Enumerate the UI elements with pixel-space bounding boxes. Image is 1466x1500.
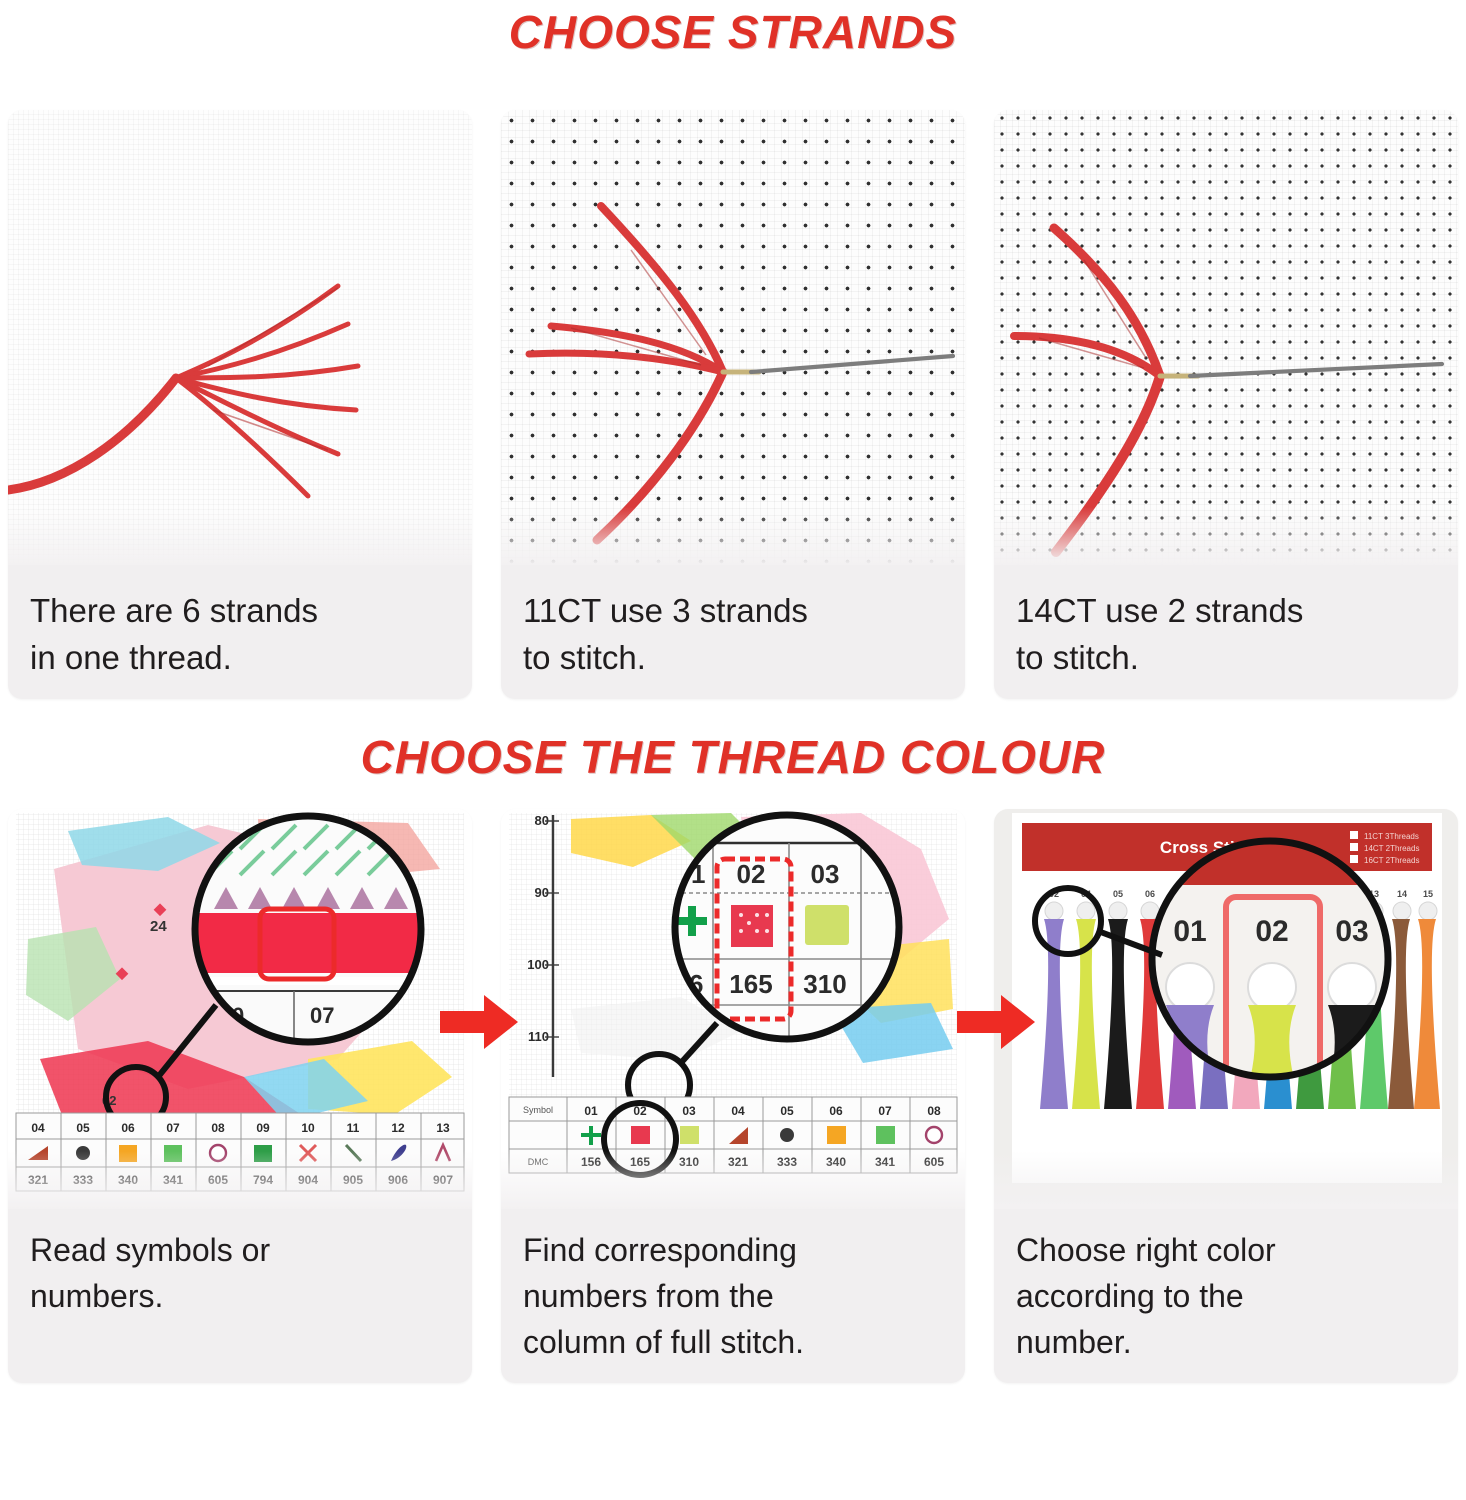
needle-shaft bbox=[1190, 364, 1442, 376]
svg-text:07: 07 bbox=[166, 1121, 180, 1135]
strand-caption-6: There are 6 strands in one thread. bbox=[8, 565, 472, 699]
strand-photo-11ct bbox=[501, 110, 965, 565]
needle-shaft bbox=[751, 356, 953, 372]
arrow-step-1-to-2-icon bbox=[440, 991, 518, 1053]
svg-text:13: 13 bbox=[436, 1121, 450, 1135]
thread-organiser-photo: Cross Stitch 11CT 3Threads 14CT 2Threads… bbox=[994, 809, 1458, 1209]
colour-caption-choose-color: Choose right color according to the numb… bbox=[994, 1209, 1458, 1383]
svg-text:Symbol: Symbol bbox=[523, 1105, 553, 1115]
photo-bottom-fade bbox=[8, 507, 472, 565]
svg-text:310: 310 bbox=[803, 969, 846, 999]
pattern-legend-illustration: 80 90 100 110 bbox=[501, 809, 965, 1209]
caption-line: numbers. bbox=[30, 1273, 450, 1319]
svg-text:01: 01 bbox=[584, 1104, 598, 1118]
photo-bottom-fade bbox=[994, 1151, 1458, 1209]
caption-line: column of full stitch. bbox=[523, 1319, 943, 1365]
svg-text:165: 165 bbox=[729, 969, 772, 999]
svg-text:07: 07 bbox=[878, 1104, 892, 1118]
photo-bottom-fade bbox=[8, 1151, 472, 1209]
colour-caption-read-symbols: Read symbols or numbers. bbox=[8, 1209, 472, 1383]
svg-text:05: 05 bbox=[1113, 889, 1123, 899]
magnified-column-labels: 01 02 03 bbox=[677, 859, 840, 889]
caption-line: Choose right color bbox=[1016, 1227, 1436, 1273]
section-title-choose-strands: CHOOSE STRANDS bbox=[0, 0, 1466, 60]
svg-text:11CT 3Threads: 11CT 3Threads bbox=[1364, 832, 1419, 841]
svg-text:05: 05 bbox=[76, 1121, 90, 1135]
colour-card-find-numbers: 80 90 100 110 bbox=[501, 809, 965, 1383]
photo-bottom-fade bbox=[501, 507, 965, 565]
arrow-step-2-to-3-icon bbox=[957, 991, 1035, 1053]
three-strands-with-needle-illustration bbox=[501, 110, 965, 565]
caption-line: Find corresponding bbox=[523, 1227, 943, 1273]
photo-bottom-fade bbox=[994, 507, 1458, 565]
magnified-punch-holes bbox=[1166, 963, 1376, 1011]
caption-line: Read symbols or bbox=[30, 1227, 450, 1273]
svg-text:11: 11 bbox=[347, 1121, 360, 1135]
svg-text:06: 06 bbox=[121, 1121, 135, 1135]
pattern-legend-photo: 80 90 100 110 bbox=[501, 809, 965, 1209]
svg-text:10: 10 bbox=[301, 1121, 315, 1135]
caption-line: numbers from the bbox=[523, 1273, 943, 1319]
colour-card-row: 24 02 bbox=[0, 809, 1466, 1383]
caption-line: in one thread. bbox=[30, 634, 450, 681]
svg-text:06: 06 bbox=[829, 1104, 843, 1118]
caption-line: according to the bbox=[1016, 1273, 1436, 1319]
photo-bottom-fade bbox=[501, 1151, 965, 1209]
svg-text:02: 02 bbox=[1255, 915, 1288, 948]
strand-card-14ct: 14CT use 2 strands to stitch. bbox=[994, 110, 1458, 699]
caption-line: number. bbox=[1016, 1319, 1436, 1365]
caption-line: There are 6 strands bbox=[30, 587, 450, 634]
strand-caption-11ct: 11CT use 3 strands to stitch. bbox=[501, 565, 965, 699]
svg-text:04: 04 bbox=[31, 1121, 45, 1135]
strand-card-11ct: 11CT use 3 strands to stitch. bbox=[501, 110, 965, 699]
svg-text:03: 03 bbox=[811, 859, 840, 889]
caption-line: to stitch. bbox=[523, 634, 943, 681]
svg-text:15: 15 bbox=[1423, 889, 1433, 899]
svg-text:02: 02 bbox=[737, 859, 766, 889]
colour-card-read-symbols: 24 02 bbox=[8, 809, 472, 1383]
caption-line: to stitch. bbox=[1016, 634, 1436, 681]
caption-line: 11CT use 3 strands bbox=[523, 587, 943, 634]
svg-text:08: 08 bbox=[211, 1121, 225, 1135]
strand-caption-14ct: 14CT use 2 strands to stitch. bbox=[994, 565, 1458, 699]
colour-card-choose-color: Cross Stitch 11CT 3Threads 14CT 2Threads… bbox=[994, 809, 1458, 1383]
svg-text:01: 01 bbox=[1173, 915, 1206, 948]
strand-photo-14ct bbox=[994, 110, 1458, 565]
svg-text:04: 04 bbox=[731, 1104, 745, 1118]
svg-text:14: 14 bbox=[1397, 889, 1407, 899]
thread-organiser-illustration: Cross Stitch 11CT 3Threads 14CT 2Threads… bbox=[994, 809, 1458, 1209]
infographic-page: CHOOSE STRANDS bbox=[0, 0, 1466, 1500]
svg-text:03: 03 bbox=[1335, 915, 1368, 948]
svg-text:03: 03 bbox=[682, 1104, 696, 1118]
strand-photo-6-strands bbox=[8, 110, 472, 565]
svg-text:16CT 2Threads: 16CT 2Threads bbox=[1364, 856, 1419, 865]
caption-line: 14CT use 2 strands bbox=[1016, 587, 1436, 634]
pattern-area-number: 24 bbox=[150, 918, 167, 935]
strand-card-6: There are 6 strands in one thread. bbox=[8, 110, 472, 699]
two-strands-with-needle-illustration bbox=[994, 110, 1458, 565]
svg-text:08: 08 bbox=[927, 1104, 941, 1118]
pattern-chart-photo: 24 02 bbox=[8, 809, 472, 1209]
magnified-skein-numbers: 01 02 03 bbox=[1173, 915, 1368, 948]
svg-text:06: 06 bbox=[1145, 889, 1155, 899]
section-title-choose-thread-colour: CHOOSE THE THREAD COLOUR bbox=[0, 723, 1466, 785]
svg-text:05: 05 bbox=[780, 1104, 794, 1118]
svg-text:14CT 2Threads: 14CT 2Threads bbox=[1364, 844, 1419, 853]
pattern-chart-illustration: 24 02 bbox=[8, 809, 472, 1209]
colour-caption-find-numbers: Find corresponding numbers from the colu… bbox=[501, 1209, 965, 1383]
strand-card-row: There are 6 strands in one thread. bbox=[0, 110, 1466, 699]
svg-text:09: 09 bbox=[256, 1121, 270, 1135]
six-strands-illustration bbox=[8, 110, 472, 565]
magnified-column-number: 07 bbox=[310, 1003, 334, 1028]
svg-text:12: 12 bbox=[391, 1121, 405, 1135]
